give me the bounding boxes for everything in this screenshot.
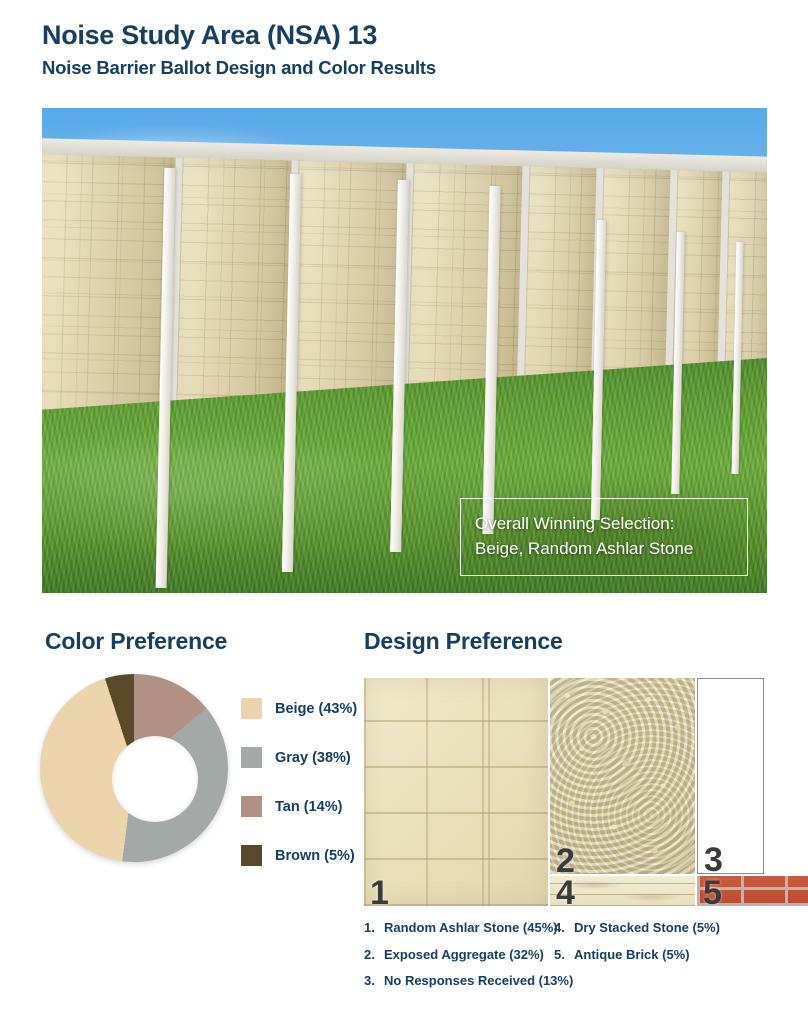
page-title: Noise Study Area (NSA) 13 xyxy=(42,20,808,51)
design-legend-item: 4.Dry Stacked Stone (5%) xyxy=(554,920,754,936)
design-legend-column-2: 4.Dry Stacked Stone (5%)5.Antique Brick … xyxy=(554,920,754,1000)
design-legend-label: Antique Brick (5%) xyxy=(574,947,690,963)
design-legend-number: 1. xyxy=(364,920,384,936)
legend-label: Beige (43%) xyxy=(275,701,357,717)
legend-label: Gray (38%) xyxy=(275,750,351,766)
tile-number: 3 xyxy=(704,843,723,874)
page-subtitle: Noise Barrier Ballot Design and Color Re… xyxy=(42,57,808,79)
design-tile-dry-stacked-stone: 4 xyxy=(550,876,695,906)
color-preference-title: Color Preference xyxy=(45,628,365,655)
design-tile-random-ashlar-stone: 1 xyxy=(364,678,548,906)
legend-swatch-gray xyxy=(241,747,262,768)
design-legend-item: 1.Random Ashlar Stone (45%) xyxy=(364,920,554,936)
design-preference-title: Design Preference xyxy=(364,628,784,655)
tile-number: 1 xyxy=(370,876,389,906)
legend-swatch-tan xyxy=(241,796,262,817)
legend-swatch-beige xyxy=(241,698,262,719)
winning-selection-callout: Overall Winning Selection: Beige, Random… xyxy=(460,498,748,576)
design-legend-item: 5.Antique Brick (5%) xyxy=(554,947,754,963)
design-legend-label: No Responses Received (13%) xyxy=(384,973,573,989)
legend-swatch-brown xyxy=(241,845,262,866)
noise-barrier-photo: Overall Winning Selection: Beige, Random… xyxy=(42,108,767,593)
infographic-page: Noise Study Area (NSA) 13 Noise Barrier … xyxy=(0,0,808,1024)
callout-line-1: Overall Winning Selection: xyxy=(475,512,733,537)
callout-line-2: Beige, Random Ashlar Stone xyxy=(475,537,733,562)
legend-label: Tan (14%) xyxy=(275,799,342,815)
legend-item-brown: Brown (5%) xyxy=(241,831,357,880)
header: Noise Study Area (NSA) 13 Noise Barrier … xyxy=(0,0,808,79)
design-preference-section: Design Preference 1 2 3 4 5 xyxy=(364,628,784,655)
design-tile-antique-brick: 5 xyxy=(697,876,808,906)
design-tile-no-responses: 3 xyxy=(697,678,764,874)
design-legend-label: Exposed Aggregate (32%) xyxy=(384,947,544,963)
design-legend-label: Dry Stacked Stone (5%) xyxy=(574,920,720,936)
legend-label: Brown (5%) xyxy=(275,848,355,864)
tile-number: 2 xyxy=(556,844,575,874)
design-tile-mosaic: 1 2 3 4 5 xyxy=(364,674,764,906)
legend-item-gray: Gray (38%) xyxy=(241,733,357,782)
design-legend-number: 4. xyxy=(554,920,574,936)
design-legend-item: 3.No Responses Received (13%) xyxy=(364,973,554,989)
design-legend-column-1: 1.Random Ashlar Stone (45%)2.Exposed Agg… xyxy=(364,920,554,1000)
color-preference-donut-chart xyxy=(40,674,270,884)
design-tile-exposed-aggregate: 2 xyxy=(550,678,695,874)
tile-number: 4 xyxy=(556,876,575,906)
design-legend-number: 2. xyxy=(364,947,384,963)
color-preference-legend: Beige (43%)Gray (38%)Tan (14%)Brown (5%) xyxy=(241,684,357,880)
design-legend-number: 5. xyxy=(554,947,574,963)
design-legend-label: Random Ashlar Stone (45%) xyxy=(384,920,558,936)
legend-item-tan: Tan (14%) xyxy=(241,782,357,831)
color-preference-section: Color Preference Beige (43%)Gray (38%)Ta… xyxy=(45,628,365,655)
legend-item-beige: Beige (43%) xyxy=(241,684,357,733)
design-legend-number: 3. xyxy=(364,973,384,989)
design-preference-legend: 1.Random Ashlar Stone (45%)2.Exposed Agg… xyxy=(364,920,804,1000)
donut-center-hole xyxy=(112,736,198,822)
design-legend-item: 2.Exposed Aggregate (32%) xyxy=(364,947,554,963)
tile-number: 5 xyxy=(703,876,722,906)
